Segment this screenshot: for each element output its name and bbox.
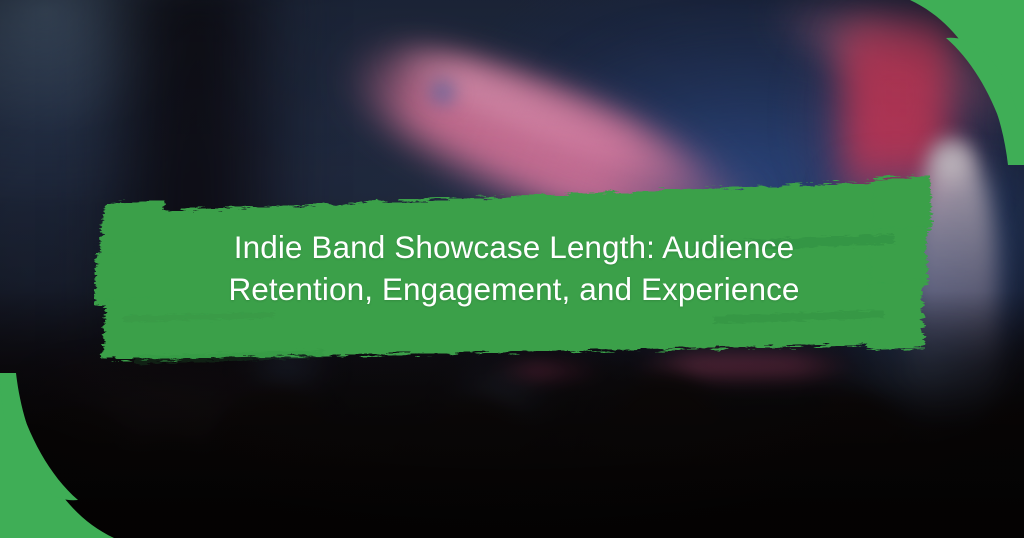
title-highlight-brush: Indie Band Showcase Length: Audience Ret… <box>94 168 934 368</box>
page-title-line-1: Indie Band Showcase Length: Audience <box>234 226 795 268</box>
page-title-line-2: Retention, Engagement, and Experience <box>228 268 799 310</box>
page-title: Indie Band Showcase Length: Audience Ret… <box>94 168 934 368</box>
blog-header-banner: Indie Band Showcase Length: Audience Ret… <box>0 0 1024 538</box>
